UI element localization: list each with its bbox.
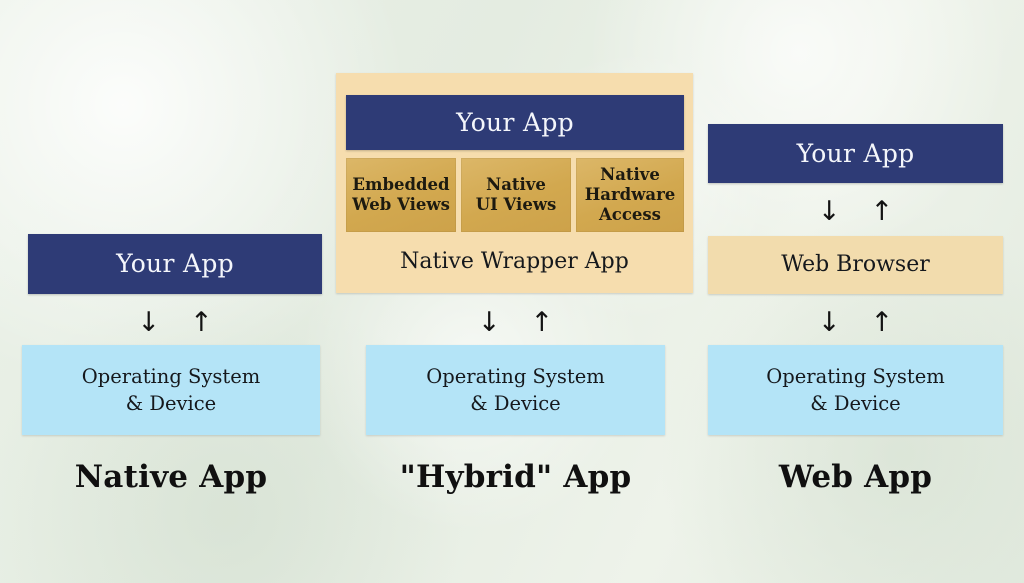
web-operating-system-box[interactable]: Operating System & Device bbox=[708, 345, 1003, 435]
web-arrows-bottom: ↓ ↑ bbox=[708, 300, 1003, 344]
web-arrows-top: ↓ ↑ bbox=[708, 189, 1003, 233]
hybrid-subcomponent-native-hardware-access[interactable]: Native Hardware Access bbox=[576, 158, 684, 232]
web-your-app-label: Your App bbox=[797, 139, 915, 169]
native-os-label-line2: & Device bbox=[126, 392, 216, 415]
web-os-label-line2: & Device bbox=[810, 392, 900, 415]
hybrid-your-app-label: Your App bbox=[456, 108, 574, 138]
native-os-label-line1: Operating System bbox=[82, 365, 261, 388]
hybrid-subcomponent-embedded-web-views[interactable]: Embedded Web Views bbox=[346, 158, 456, 232]
sub-native-ui-line1: Native bbox=[486, 175, 546, 195]
arrow-down-icon: ↓ bbox=[137, 309, 160, 336]
native-your-app-box[interactable]: Your App bbox=[28, 234, 322, 294]
arrow-down-icon: ↓ bbox=[818, 309, 841, 336]
arrow-up-icon: ↑ bbox=[871, 198, 894, 225]
caption-web-app: Web App bbox=[708, 459, 1003, 495]
arrow-down-icon: ↓ bbox=[818, 198, 841, 225]
hybrid-os-label-line2: & Device bbox=[470, 392, 560, 415]
hybrid-os-label-line1: Operating System bbox=[426, 365, 605, 388]
web-browser-box[interactable]: Web Browser bbox=[708, 236, 1003, 294]
sub-embedded-line1: Embedded bbox=[352, 175, 449, 195]
native-arrows: ↓ ↑ bbox=[28, 300, 322, 344]
native-operating-system-box[interactable]: Operating System & Device bbox=[22, 345, 320, 435]
sub-native-ui-line2: UI Views bbox=[476, 195, 557, 215]
web-your-app-box[interactable]: Your App bbox=[708, 124, 1003, 183]
arrow-up-icon: ↑ bbox=[531, 309, 554, 336]
sub-embedded-line2: Web Views bbox=[352, 195, 450, 215]
native-your-app-label: Your App bbox=[116, 249, 234, 279]
caption-hybrid-app: "Hybrid" App bbox=[366, 459, 665, 495]
arrow-up-icon: ↑ bbox=[190, 309, 213, 336]
sub-hardware-line2: Hardware bbox=[585, 185, 676, 205]
sub-hardware-line3: Access bbox=[599, 205, 661, 225]
hybrid-your-app-box[interactable]: Your App bbox=[346, 95, 684, 150]
hybrid-operating-system-box[interactable]: Operating System & Device bbox=[366, 345, 665, 435]
sub-hardware-line1: Native bbox=[600, 165, 660, 185]
caption-native-app: Native App bbox=[22, 459, 320, 495]
hybrid-subcomponent-native-ui-views[interactable]: Native UI Views bbox=[461, 158, 571, 232]
arrow-up-icon: ↑ bbox=[871, 309, 894, 336]
hybrid-wrapper-label: Native Wrapper App bbox=[336, 249, 693, 275]
web-os-label-line1: Operating System bbox=[766, 365, 945, 388]
app-architecture-diagram: Your App ↓ ↑ Operating System & Device N… bbox=[0, 0, 1024, 583]
hybrid-native-wrapper-box[interactable]: Your App Embedded Web Views Native UI Vi… bbox=[336, 73, 693, 293]
web-browser-label: Web Browser bbox=[781, 252, 930, 278]
hybrid-arrows: ↓ ↑ bbox=[366, 300, 665, 344]
arrow-down-icon: ↓ bbox=[478, 309, 501, 336]
